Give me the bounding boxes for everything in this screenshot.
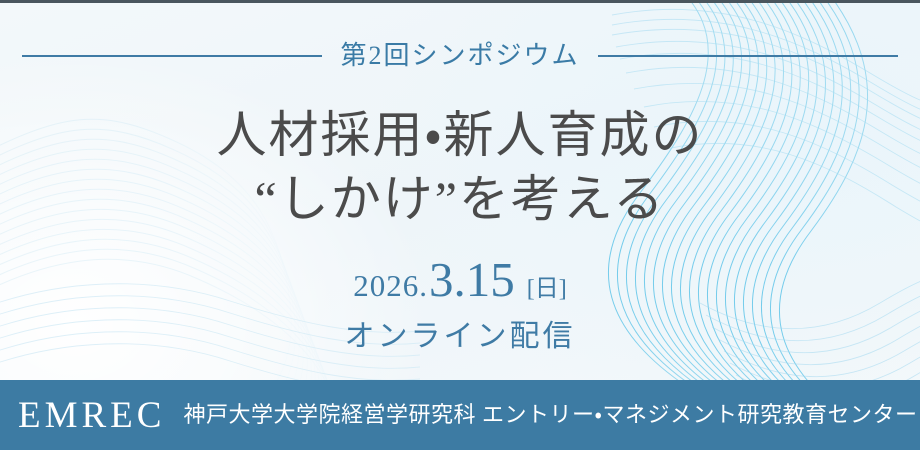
page-title: 人材採用・新人育成の “しかけ”を考える [0, 103, 920, 231]
event-day-of-week: [日] [527, 277, 567, 301]
eyebrow-rule-left [22, 55, 322, 57]
event-month-day: 3.15 [429, 255, 515, 304]
event-date-block: 2026. 3.15 [日] オンライン配信 [0, 255, 920, 352]
event-date-row: 2026. 3.15 [日] [0, 255, 920, 304]
organization-name: 神戸大学大学院経営学研究科 エントリー・マネジメント研究教育センター [183, 404, 917, 426]
symposium-banner: 第2回シンポジウム 人材採用・新人育成の “しかけ”を考える 2026. 3.1… [0, 0, 920, 450]
eyebrow-header: 第2回シンポジウム [0, 35, 920, 77]
title-line-2: “しかけ”を考える [0, 167, 920, 231]
title-line-1: 人材採用・新人育成の [0, 103, 920, 167]
event-delivery-format: オンライン配信 [0, 322, 920, 352]
emrec-logo-text: EMREC [18, 397, 165, 434]
eyebrow-rule-right [598, 55, 898, 57]
footer-bar: EMREC 神戸大学大学院経営学研究科 エントリー・マネジメント研究教育センター [0, 380, 920, 450]
event-year: 2026. [353, 270, 428, 301]
eyebrow-label: 第2回シンポジウム [322, 43, 597, 69]
